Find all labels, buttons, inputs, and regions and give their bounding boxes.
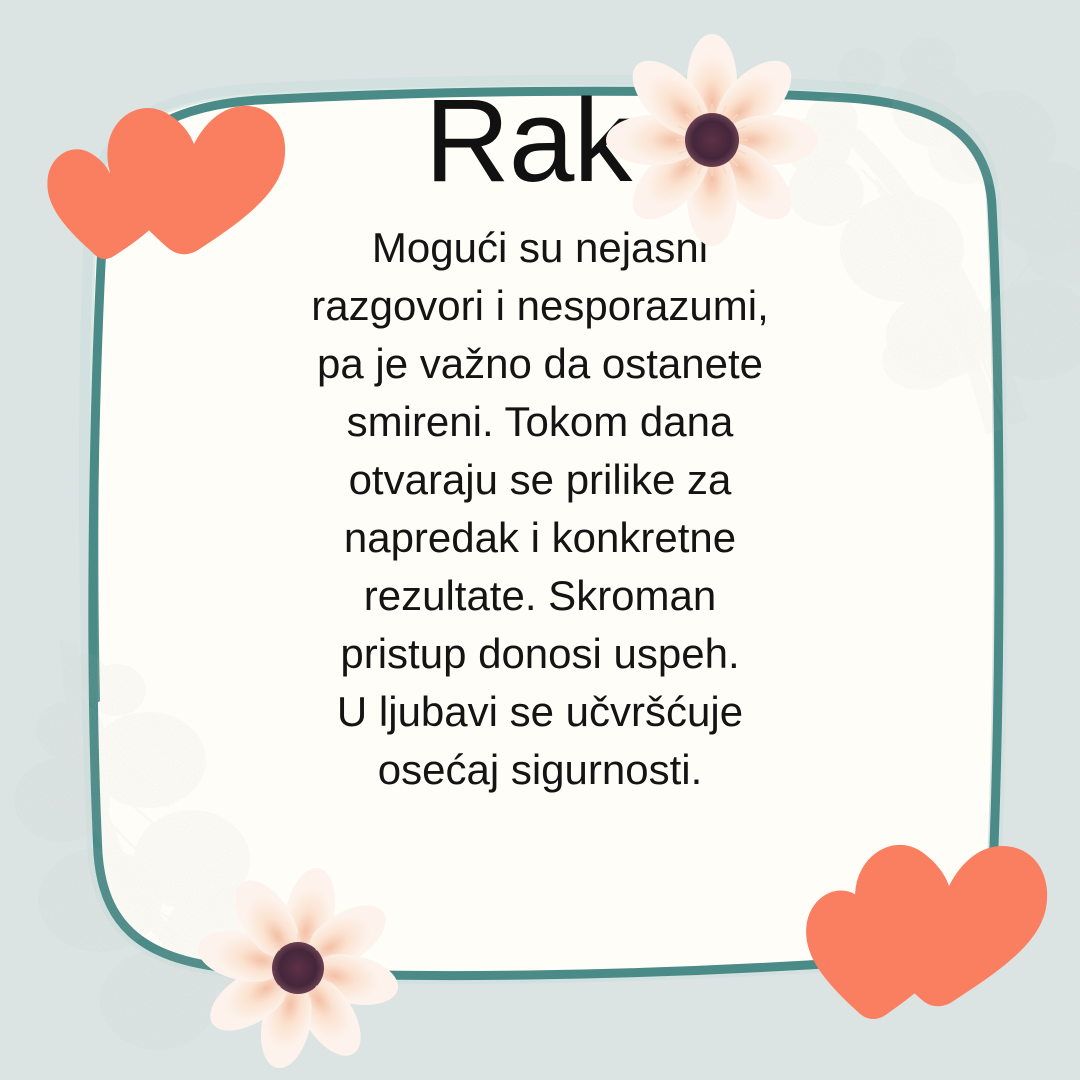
heart-pair-top-left bbox=[47, 106, 285, 259]
decorations-front bbox=[0, 0, 1080, 1080]
anemone-flower-bottom bbox=[193, 863, 403, 1073]
flower-center bbox=[685, 113, 739, 167]
horoscope-card: Rak Mogući su nejasni razgovori i nespor… bbox=[0, 0, 1080, 1080]
heart-pair-bottom-right bbox=[806, 845, 1047, 1019]
anemone-flower-top bbox=[606, 34, 818, 246]
